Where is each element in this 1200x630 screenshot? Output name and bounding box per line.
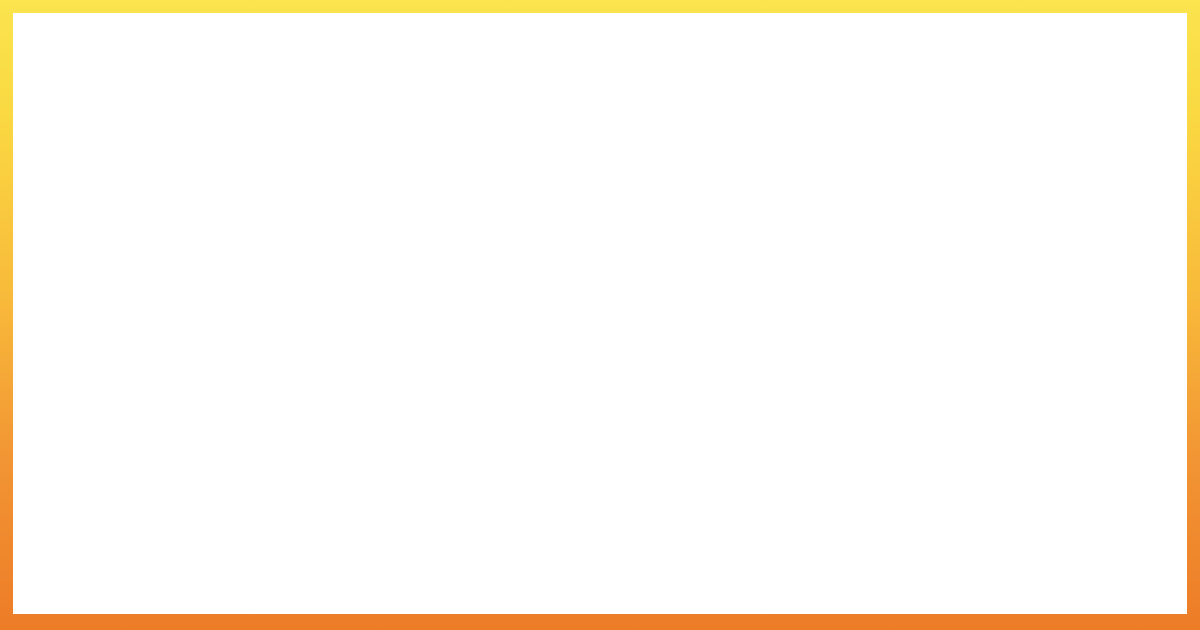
console-base — [375, 523, 923, 570]
headline-block: 매출 직격탄! 진상 손님 막는 법 지금 바로 확인! — [0, 206, 1200, 413]
headline-line-2: 손님 막는 법 지금 — [404, 278, 796, 339]
artwork-stripes — [39, 13, 105, 158]
console-object — [653, 445, 761, 468]
page-title: 매출 직격탄! 진상 손님 막는 법 지금 바로 확인! — [170, 206, 1030, 413]
small-box — [903, 511, 935, 557]
console-shelf — [532, 483, 778, 487]
headline-line-1: 매출 직격탄! 진상 — [401, 209, 798, 270]
headline-line-3: 바로 확인! — [483, 347, 718, 408]
console-drawer-handle — [391, 533, 907, 536]
console-object — [601, 455, 618, 473]
plant-pot — [123, 477, 227, 569]
console-object — [562, 443, 589, 475]
artwork-signature — [54, 166, 92, 173]
floor-speaker — [948, 445, 996, 567]
tv-console — [368, 395, 930, 575]
tv-screen-title: GONE GIRL — [449, 173, 859, 196]
banner-canvas: GONE GIRL — [0, 0, 1200, 630]
